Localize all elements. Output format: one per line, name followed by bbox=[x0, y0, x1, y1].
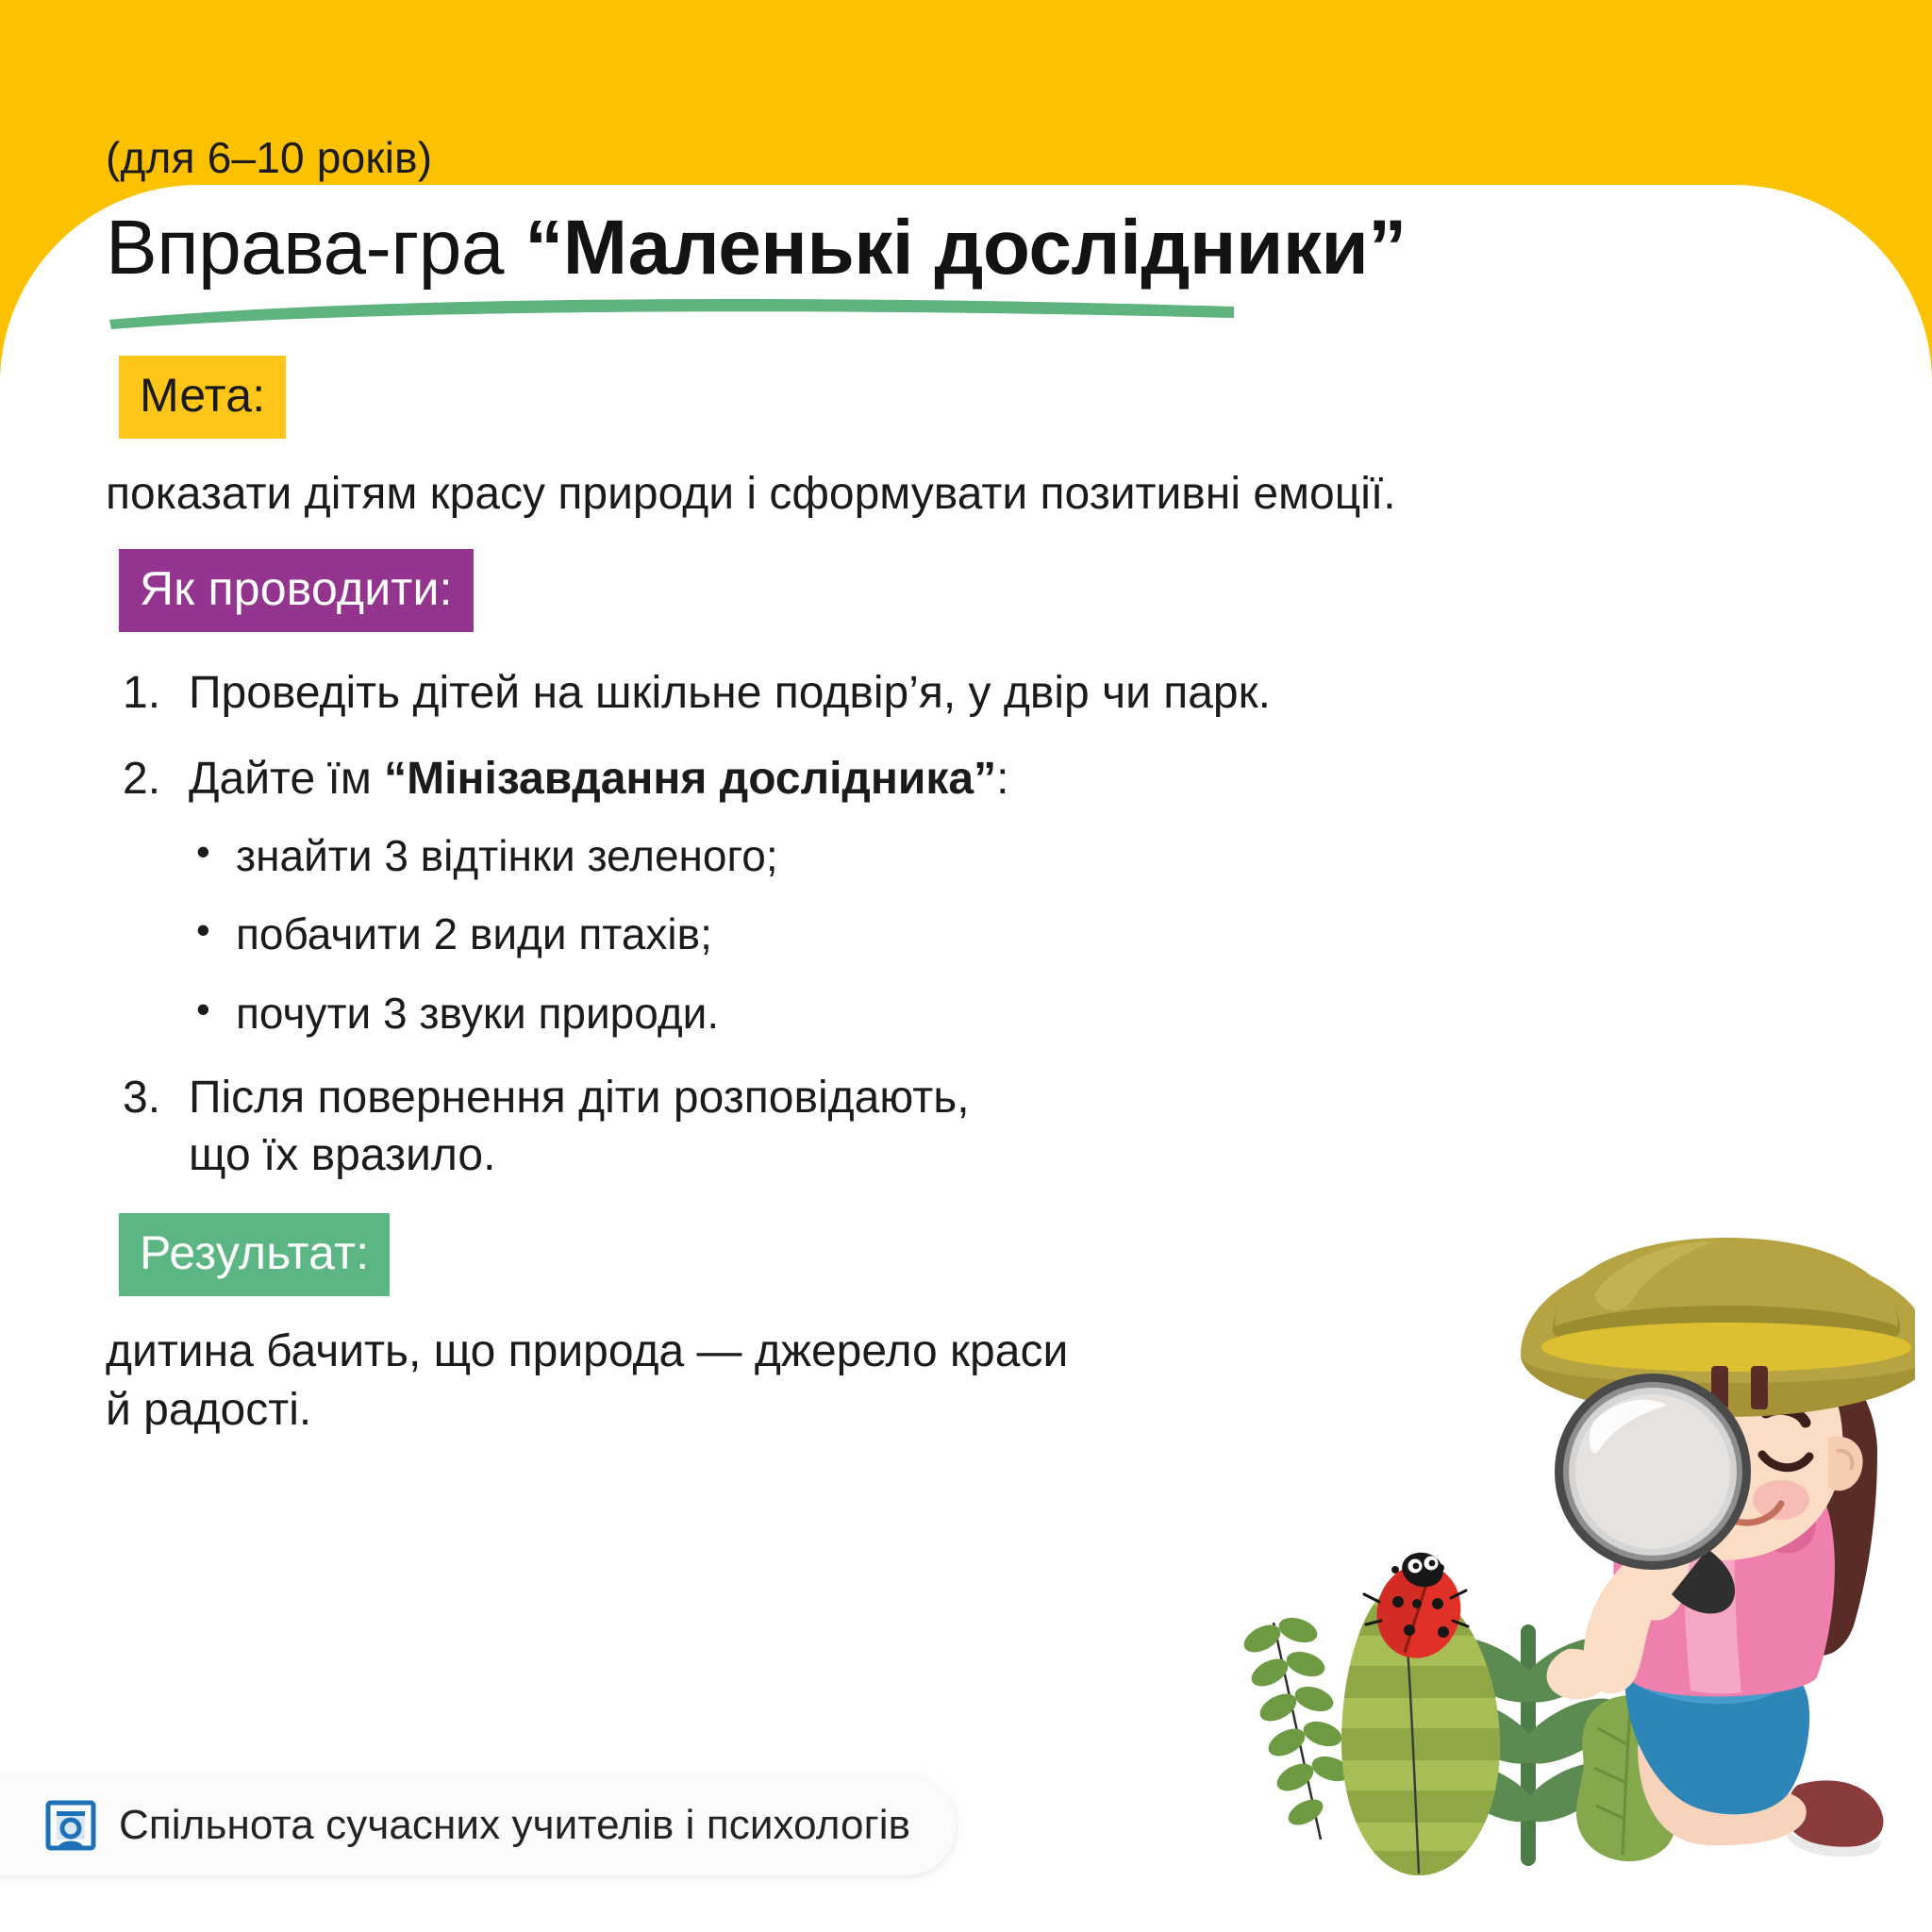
community-portrait-logo-icon bbox=[45, 1800, 96, 1851]
fern-branch-icon bbox=[1240, 1613, 1354, 1840]
result-badge: Результат: bbox=[119, 1213, 390, 1296]
step-tail-2: : bbox=[996, 754, 1008, 804]
how-badge: Як проводити: bbox=[119, 549, 474, 632]
safari-hat-icon bbox=[1521, 1238, 1915, 1417]
cheek-right bbox=[1753, 1480, 1809, 1520]
poster-canvas: (для 6–10 років) Вправа-гра “Маленькі до… bbox=[0, 0, 1932, 1932]
step-item-2: 2.Дайте їм “Мінізавдання дослідника”: зн… bbox=[106, 750, 1302, 1041]
title-bold-part: “Маленькі дослідники” bbox=[525, 205, 1407, 291]
mini-task-bullet-3: почути 3 звуки природи. bbox=[189, 987, 1302, 1041]
footer-attribution-bar[interactable]: Спільнота сучасних учителів і психологів bbox=[0, 1775, 956, 1875]
step-text-3: Після повернення діти розповідають, що ї… bbox=[189, 1073, 970, 1180]
title-block: Вправа-гра “Маленькі дослідники” bbox=[106, 208, 1653, 331]
step-number-1: 1. bbox=[123, 664, 181, 722]
page-title: Вправа-гра “Маленькі дослідники” bbox=[106, 208, 1653, 288]
illustration-girl-explorer bbox=[1217, 1179, 1915, 1877]
title-regular-part: Вправа-гра bbox=[106, 205, 525, 291]
age-range-eyebrow: (для 6–10 років) bbox=[106, 132, 1634, 183]
step-number-2: 2. bbox=[123, 750, 181, 808]
step-text-1: Проведіть дітей на шкільне подвір’я, у д… bbox=[189, 668, 1271, 718]
girl-figure bbox=[1521, 1238, 1915, 1857]
step-item-1: 1.Проведіть дітей на шкільне подвір’я, у… bbox=[106, 664, 1302, 722]
mini-task-bullets: знайти 3 відтінки зеленого; побачити 2 в… bbox=[189, 829, 1302, 1041]
how-steps-list: 1.Проведіть дітей на шкільне подвір’я, у… bbox=[106, 664, 1634, 1185]
step-bold-2: “Мінізавдання дослідника” bbox=[384, 754, 996, 804]
footer-text: Спільнота сучасних учителів і психологів bbox=[119, 1802, 910, 1849]
goal-badge: Мета: bbox=[119, 356, 286, 439]
mini-task-bullet-2: побачити 2 види птахів; bbox=[189, 908, 1302, 962]
step-text-2: Дайте їм bbox=[189, 754, 384, 804]
goal-text: показати дітям красу природи і сформуват… bbox=[106, 465, 1634, 524]
step-number-3: 3. bbox=[123, 1069, 181, 1126]
how-badge-row: Як проводити: bbox=[119, 549, 1634, 632]
mini-task-bullet-1: знайти 3 відтінки зеленого; bbox=[189, 829, 1302, 884]
result-text: дитина бачить, що природа — джерело крас… bbox=[106, 1323, 1106, 1441]
goal-badge-row: Мета: bbox=[119, 356, 1634, 439]
step-item-3: 3.Після повернення діти розповідають, що… bbox=[106, 1069, 1038, 1185]
title-underline-swoosh bbox=[106, 291, 1238, 331]
